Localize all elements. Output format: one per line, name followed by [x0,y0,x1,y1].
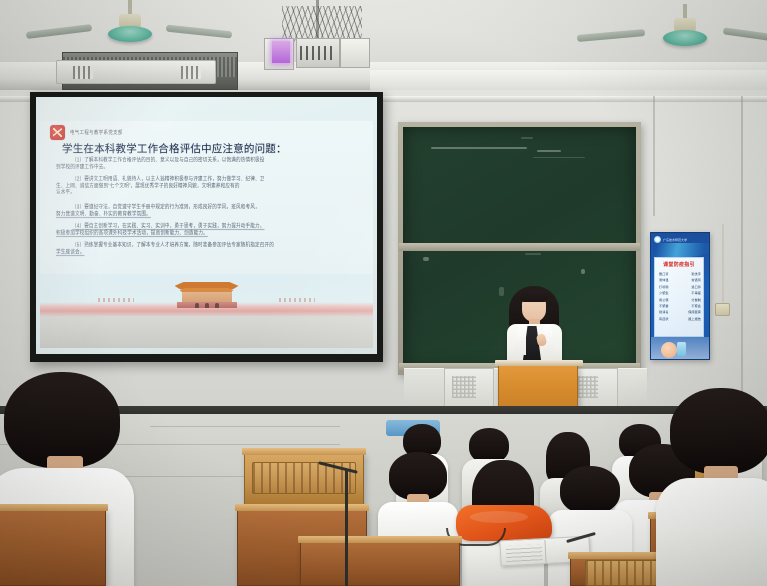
poster-row-left: 用公筷 [659,297,669,302]
poster-row: 打喷嚏 遮口鼻 [659,284,701,289]
slide-line: 到学校的评建工作中去。 [56,164,374,172]
ac-vent-right [181,66,201,79]
projection-screen-frame: 电气工程与教学系党支部 学生在本科教学工作合格评估中应注意的问题： （1）了解本… [30,92,383,362]
fan-hub [108,26,152,42]
poster-row-right: 报上报告 [688,316,701,321]
chalk-mark [537,150,561,152]
speaker-grill [452,376,476,398]
presentation-slide: 电气工程与教学系党支部 学生在本科教学工作合格评估中应注意的问题： （1）了解本… [40,121,373,348]
student-head [560,466,620,514]
poster-logo-text: 广东技术师范大学 [663,238,687,242]
chalk-mark [533,157,585,158]
communist-party-emblem-icon [50,125,65,140]
presenter-fringe [520,290,548,302]
ceiling-fan-left [70,0,190,46]
notebook-lines [506,544,543,562]
poster-row-right: 分餐制 [691,297,701,302]
chalk-mark [525,253,541,255]
slide-org-name: 电气工程与教学系党支部 [70,129,123,136]
poster-logo: 广东技术师范大学 [654,236,687,243]
student-head [389,452,447,500]
student-shirt [656,478,767,586]
poster-row-right: 遮口鼻 [691,284,701,289]
chalk-piece [423,257,429,261]
poster-row: 勤消毒 保持距离 [659,309,701,314]
ceiling-fan-right [625,4,745,50]
desk-top [0,504,108,511]
poster-footer [651,337,709,359]
slide-footer-band [40,274,373,348]
desk-top [242,448,366,455]
slide-paragraph-3: （3）要遵纪守法，自觉遵守学生手册中规定的行为准则，形成良好的学风，班风和考风，… [56,204,374,217]
poster-graphic-swoosh [651,243,709,257]
poster-row-left: 勤消毒 [659,309,669,314]
poster-row-left: 少聚集 [659,290,669,295]
tiananmen-gate-illustration [175,282,239,308]
tiananmen-arch [205,303,209,308]
chalk-mark [431,147,527,149]
slide-line: 积极参加学校组织的各项课外科技学术活动，提高创新能力、创造能力。 [56,230,374,238]
epidemic-prevention-poster: 广东技术师范大学 课堂防疫指引 戴口罩 勤洗手 测体温 常通风 打喷嚏 遮口鼻 … [650,232,710,360]
slide-paragraph-4: （4）要自主创新学习，在实践、实习、实训中，勇于思考，勇于实践，努力提升动手能力… [56,223,374,236]
poster-content-card: 课堂防疫指引 戴口罩 勤洗手 测体温 常通风 打喷嚏 遮口鼻 少聚集 不串座 [654,257,704,337]
wall-joint [741,96,743,396]
poster-row-right: 勤洗手 [691,271,701,276]
uv-indicator-lamp [272,41,290,63]
slide-line: 努力营造文明、勤奋、朴实的教育教学氛围。 [56,211,374,219]
chalk-mark [521,137,533,139]
poster-row: 测体温 常通风 [659,277,701,282]
poster-row-left: 不聚餐 [659,303,669,308]
poster-guideline-list: 戴口罩 勤洗手 测体温 常通风 打喷嚏 遮口鼻 少聚集 不串座 用公筷 分餐 [659,271,701,321]
ac-front-panel [56,60,216,84]
presenter [495,286,575,370]
light-switch[interactable] [715,303,730,316]
slide-header: 电气工程与教学系党支部 [50,125,123,140]
student-head [670,388,767,474]
poster-row-right: 保持距离 [688,309,701,314]
wall-joint [653,96,655,216]
slide-paragraph-1: （1）了解本科教学工作合格评估的目的、意义以及与自己的密切关系，以饱满的热情积极… [56,157,374,170]
desk-top [298,536,462,543]
tiananmen-flank-right [279,298,315,302]
wooden-lectern [498,364,578,412]
slide-line: 认水平。 [56,189,374,197]
av-console-left [444,368,494,410]
poster-row: 不聚餐 不聚会 [659,303,701,308]
microphone-stand [345,470,348,586]
desk-top [235,504,369,511]
tiananmen-roof [175,282,239,289]
student-foreground [656,388,767,586]
slide-title: 学生在本科教学工作合格评估中应注意的问题： [62,141,287,156]
fan-hub [663,30,707,46]
desk-foreground [0,508,106,586]
poster-row: 少聚集 不串座 [659,290,701,295]
poster-row-right: 不串座 [691,290,701,295]
pull-cord[interactable] [722,224,724,304]
hand-washing-icon [661,342,677,358]
slide-paragraph-2: （2）要讲文工明用语、礼貌待人，以主人翁精神积极参与评建工作，努力做学习、纪律、… [56,176,374,196]
tiananmen-flank-left [98,298,134,302]
student-head [4,372,120,468]
projection-screen: 电气工程与教学系党支部 学生在本科教学工作合格评估中应注意的问题： （1）了解本… [36,97,377,354]
poster-title: 课堂防疫指引 [655,261,703,268]
poster-row: 有症状 报上报告 [659,316,701,321]
poster-row-left: 戴口罩 [659,271,669,276]
university-logo-icon [654,236,661,243]
student-head [469,428,509,463]
chalk-tray-middle [399,243,640,251]
lectern-top [495,360,583,366]
poster-row-left: 有症状 [659,316,669,321]
sanitizer-bottle-icon [677,342,686,356]
poster-row-left: 测体温 [659,277,669,282]
control-box-right [340,38,370,68]
floor-tile-line [150,426,340,427]
poster-row: 用公筷 分餐制 [659,297,701,302]
tiananmen-arch [215,303,219,308]
chalk-piece [581,269,585,274]
slide-line: 学生座谈会。 [56,249,374,257]
classroom-photo: 电气工程与教学系党支部 学生在本科教学工作合格评估中应注意的问题： （1）了解本… [0,0,767,586]
poster-row-left: 打喷嚏 [659,284,669,289]
ac-vent-left [73,66,93,79]
poster-row-right: 常通风 [691,277,701,282]
control-box-switches [300,46,336,60]
slide-paragraph-5: （5）熟练掌握专业基本知识，了解本专业人才培养方案，随时准备参加评估专家随机指定… [56,242,374,255]
poster-row: 戴口罩 勤洗手 [659,271,701,276]
poster-row-right: 不聚会 [691,303,701,308]
desk [300,540,460,586]
cable-bundle [282,6,362,42]
tiananmen-arch [195,303,199,308]
